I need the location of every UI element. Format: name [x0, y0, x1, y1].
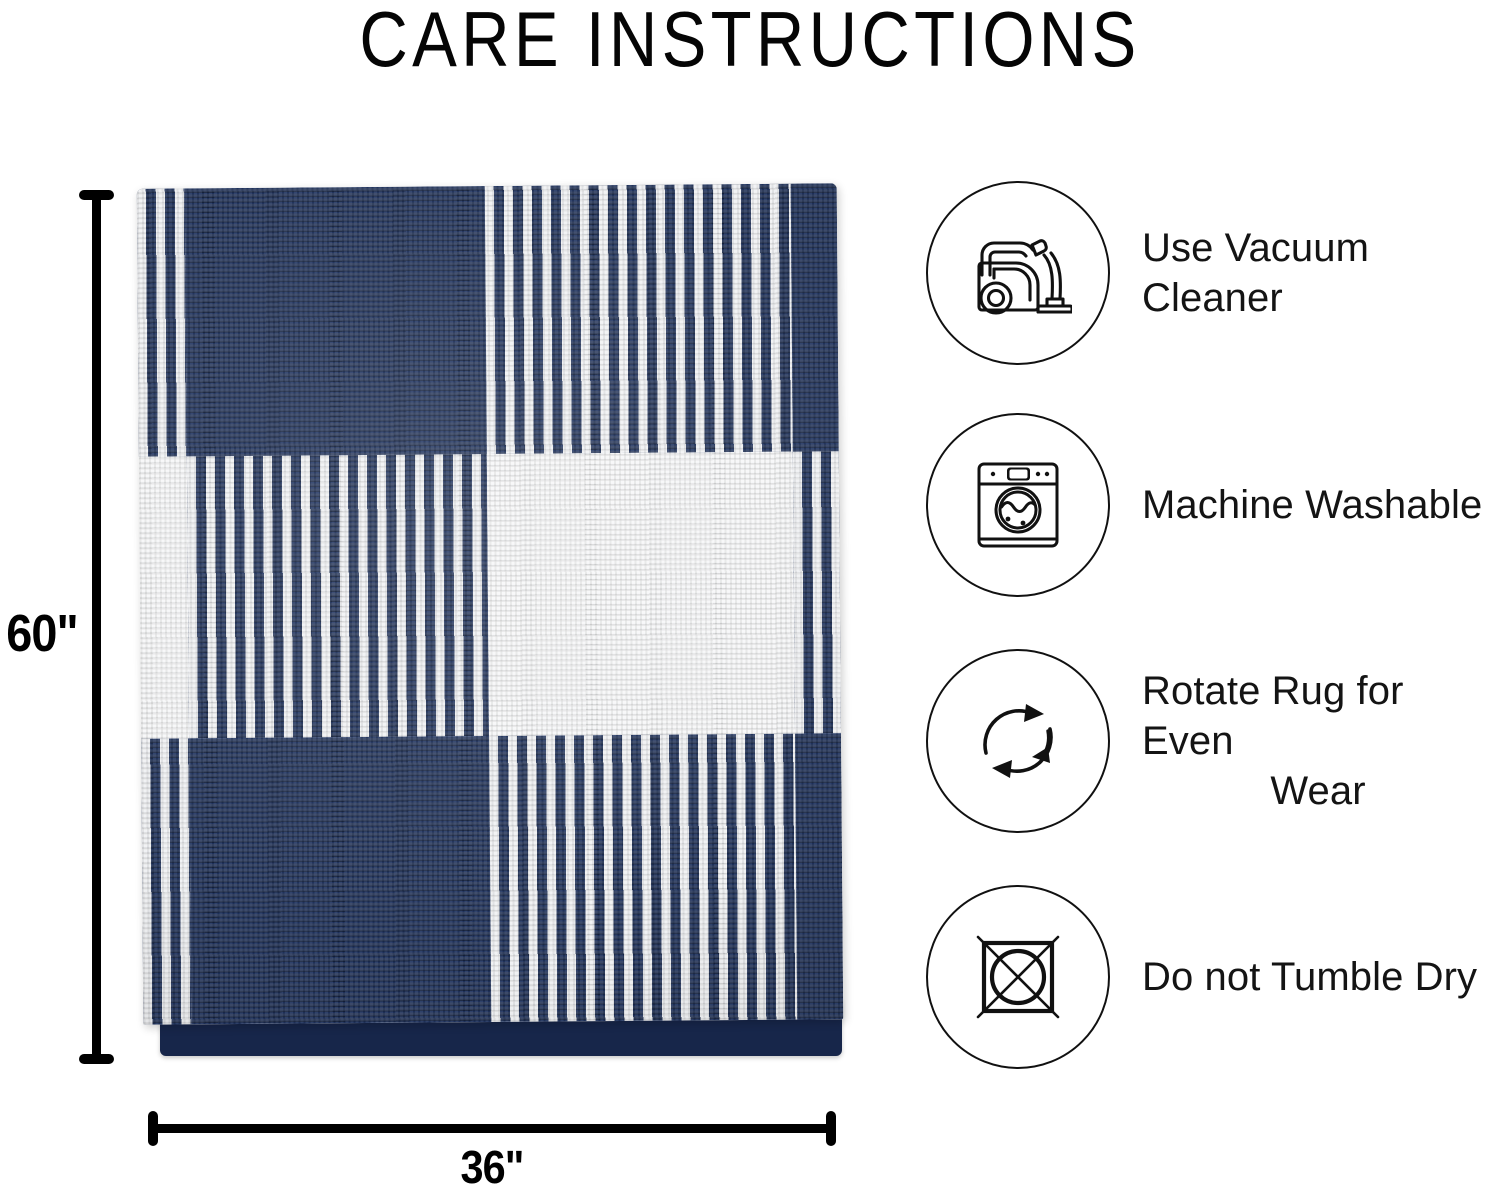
icon-badge — [926, 181, 1110, 365]
plaid-cell — [795, 733, 843, 1019]
care-instruction-list: Use Vacuum Cleaner — [918, 178, 1498, 1088]
plaid-pattern-grid — [137, 183, 844, 1024]
dimension-line-horizontal — [150, 1124, 834, 1133]
icon-badge — [926, 649, 1110, 833]
care-item-label: Machine Washable — [1142, 480, 1482, 530]
care-item-rotate-rug: Rotate Rug for Even Wear — [918, 646, 1498, 836]
plaid-cell — [141, 738, 191, 1024]
rug-product-photo — [140, 186, 850, 1066]
plaid-cell — [139, 456, 189, 738]
care-item-label-line1: Rotate Rug for Even — [1142, 669, 1404, 763]
care-item-use-vacuum-cleaner: Use Vacuum Cleaner — [918, 178, 1498, 368]
no-tumble-dry-icon — [966, 925, 1070, 1029]
vacuum-cleaner-icon — [964, 219, 1072, 327]
care-item-do-not-tumble-dry: Do not Tumble Dry — [918, 882, 1498, 1072]
plaid-cell — [487, 452, 795, 736]
care-item-machine-washable: Machine Washable — [918, 410, 1498, 600]
plaid-cell — [137, 188, 187, 456]
washing-machine-icon — [966, 453, 1070, 557]
icon-badge — [926, 885, 1110, 1069]
plaid-cell — [791, 183, 839, 451]
plaid-cell — [189, 736, 491, 1024]
plaid-cell — [185, 186, 487, 456]
icon-badge — [926, 413, 1110, 597]
care-instructions-infographic: CARE INSTRUCTIONS 60" — [0, 0, 1500, 1184]
care-item-label-line2: Wear — [1142, 766, 1494, 816]
dimension-line-vertical — [92, 192, 101, 1062]
plaid-cell — [793, 451, 841, 733]
rug-buffalo-check-surface — [137, 183, 844, 1024]
rotate-arrows-icon — [964, 687, 1072, 795]
page-title: CARE INSTRUCTIONS — [105, 0, 1395, 82]
care-item-label: Use Vacuum Cleaner — [1142, 223, 1494, 323]
dimension-label-width: 36" — [184, 1140, 800, 1184]
plaid-cell — [187, 454, 489, 738]
dimension-label-height: 60" — [4, 604, 80, 664]
plaid-cell — [489, 734, 797, 1022]
care-item-label: Do not Tumble Dry — [1142, 952, 1477, 1002]
plaid-cell — [485, 184, 793, 454]
care-item-label: Rotate Rug for Even Wear — [1142, 666, 1494, 816]
